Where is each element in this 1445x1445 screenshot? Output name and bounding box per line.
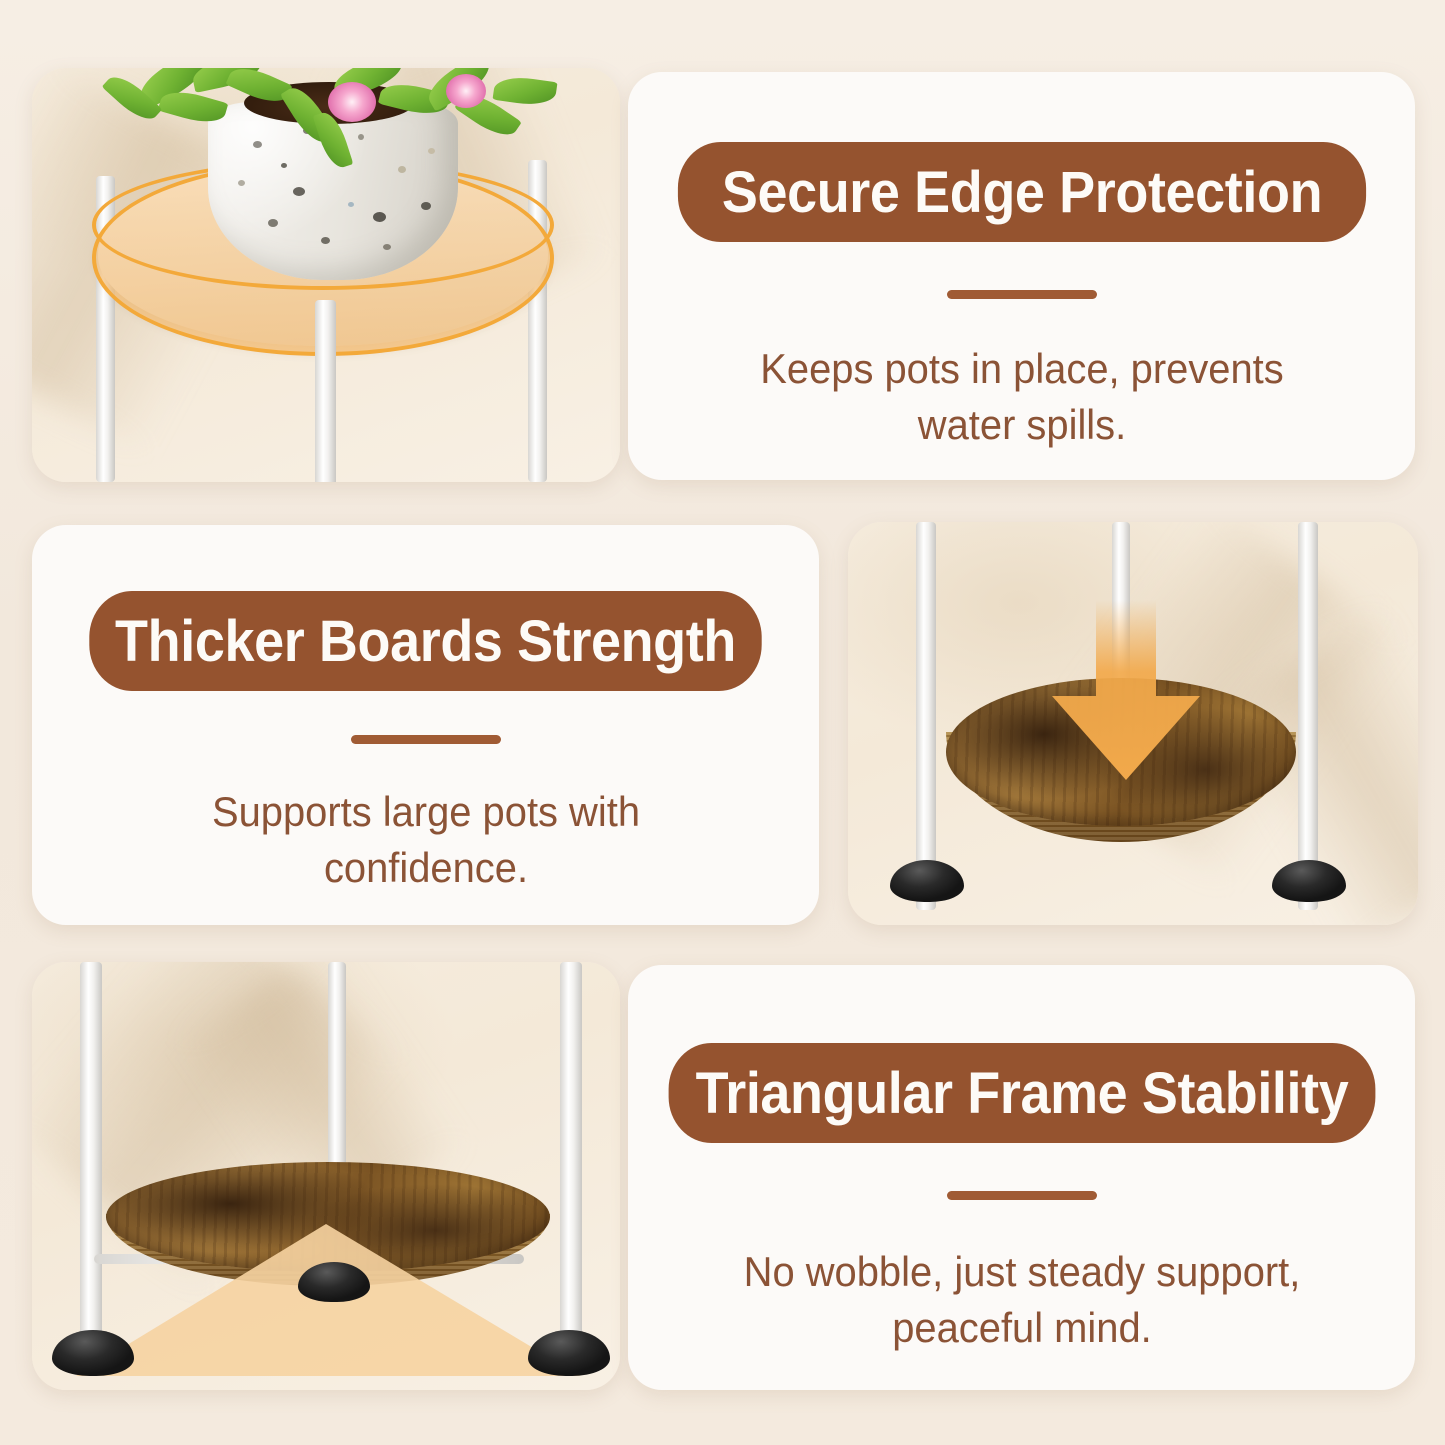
- pink-flower: [446, 74, 486, 108]
- feature-badge-triangular-frame: Triangular Frame Stability: [668, 1043, 1375, 1143]
- badge-divider: [947, 290, 1097, 299]
- feature-body-secure-edge: Keeps pots in place, prevents water spil…: [708, 341, 1335, 454]
- feature-card-triangular-frame: Triangular Frame Stability No wobble, ju…: [628, 965, 1415, 1390]
- orange-down-arrow-icon: [1052, 600, 1200, 780]
- photo-tripod-base-triangle-overlay: [32, 962, 620, 1390]
- stand-leg-left: [916, 522, 936, 910]
- stand-leg-center: [315, 300, 336, 482]
- feature-card-secure-edge: Secure Edge Protection Keeps pots in pla…: [628, 72, 1415, 480]
- stand-leg-right: [1298, 522, 1318, 910]
- feature-badge-secure-edge: Secure Edge Protection: [677, 142, 1365, 242]
- badge-divider: [947, 1191, 1097, 1200]
- photo-wood-shelf-load-arrow: [848, 522, 1418, 925]
- feature-body-triangular-frame: No wobble, just steady support, peaceful…: [689, 1244, 1354, 1357]
- badge-divider: [351, 735, 501, 744]
- photo-plant-pot-on-tray-with-edge-ring: [32, 68, 620, 482]
- feature-badge-thicker-boards: Thicker Boards Strength: [89, 591, 761, 691]
- feature-body-thicker-boards: Supports large pots with confidence.: [122, 784, 730, 897]
- stand-leg-center: [328, 962, 346, 1180]
- pink-flower: [328, 82, 376, 122]
- feature-card-thicker-boards: Thicker Boards Strength Supports large p…: [32, 525, 819, 925]
- feature-grid: Secure Edge Protection Keeps pots in pla…: [0, 0, 1445, 1445]
